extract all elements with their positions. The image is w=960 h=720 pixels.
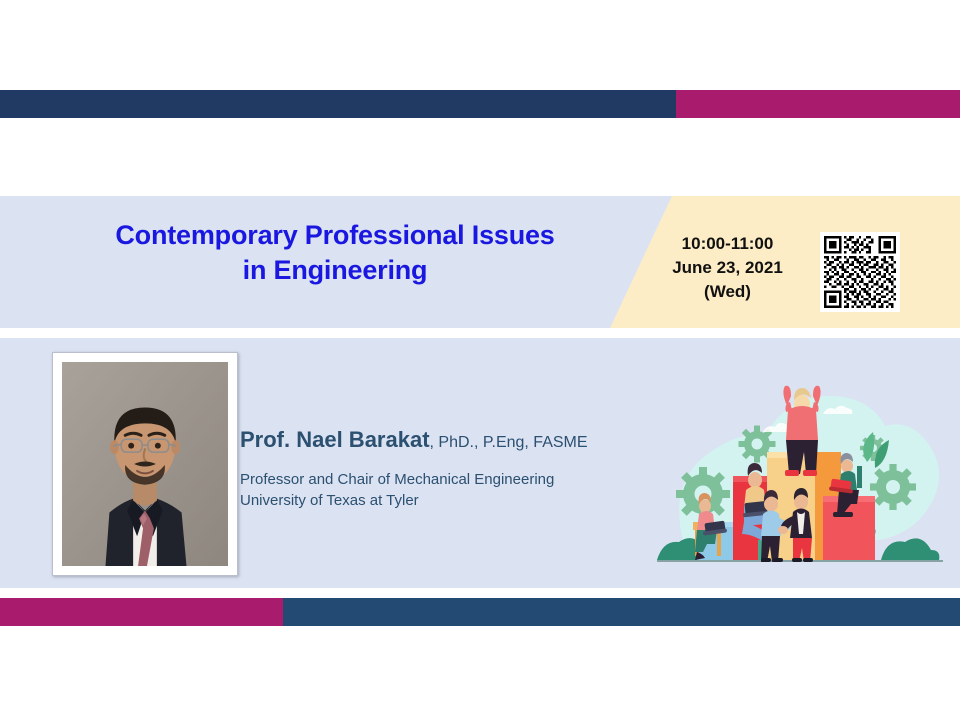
schedule-block: 10:00-11:00 June 23, 2021 (Wed) bbox=[645, 232, 810, 304]
speaker-name-line: Prof. Nael Barakat, PhD., P.Eng, FASME bbox=[240, 426, 670, 457]
bottom-bar-magenta-segment bbox=[0, 598, 283, 626]
qr-code-icon[interactable] bbox=[820, 232, 900, 312]
speaker-band: Prof. Nael Barakat, PhD., P.Eng, FASME P… bbox=[0, 338, 960, 588]
speaker-name: Prof. Nael Barakat bbox=[240, 427, 430, 452]
band-gap bbox=[0, 328, 960, 338]
speaker-credentials: , PhD., P.Eng, FASME bbox=[430, 434, 588, 451]
page-title: Contemporary Professional Issues in Engi… bbox=[60, 218, 610, 288]
speaker-photo-frame bbox=[52, 352, 238, 576]
speaker-affiliation: Professor and Chair of Mechanical Engine… bbox=[240, 469, 670, 511]
top-accent-bar bbox=[0, 90, 960, 118]
speaker-info: Prof. Nael Barakat, PhD., P.Eng, FASME P… bbox=[240, 426, 670, 511]
schedule-day: (Wed) bbox=[645, 280, 810, 304]
podium-teamwork-illustration bbox=[645, 344, 955, 588]
avatar bbox=[62, 362, 228, 566]
speaker-role-line-1: Professor and Chair of Mechanical Engine… bbox=[240, 469, 670, 490]
schedule-date: June 23, 2021 bbox=[645, 256, 810, 280]
bottom-accent-bar bbox=[0, 598, 960, 626]
logo-band: THE HONG KONG UNIVERSITY OF SCIENCE AND … bbox=[0, 118, 960, 196]
title-line-2: in Engineering bbox=[60, 253, 610, 288]
title-band: Contemporary Professional Issues in Engi… bbox=[0, 196, 960, 328]
top-bar-magenta-segment bbox=[676, 90, 960, 118]
schedule-time: 10:00-11:00 bbox=[645, 232, 810, 256]
seminar-poster: THE HONG KONG UNIVERSITY OF SCIENCE AND … bbox=[0, 0, 960, 720]
top-bar-navy-segment bbox=[0, 90, 676, 118]
bottom-bar-navy-segment bbox=[283, 598, 960, 626]
title-line-1: Contemporary Professional Issues bbox=[60, 218, 610, 253]
speaker-role-line-2: University of Texas at Tyler bbox=[240, 490, 670, 511]
